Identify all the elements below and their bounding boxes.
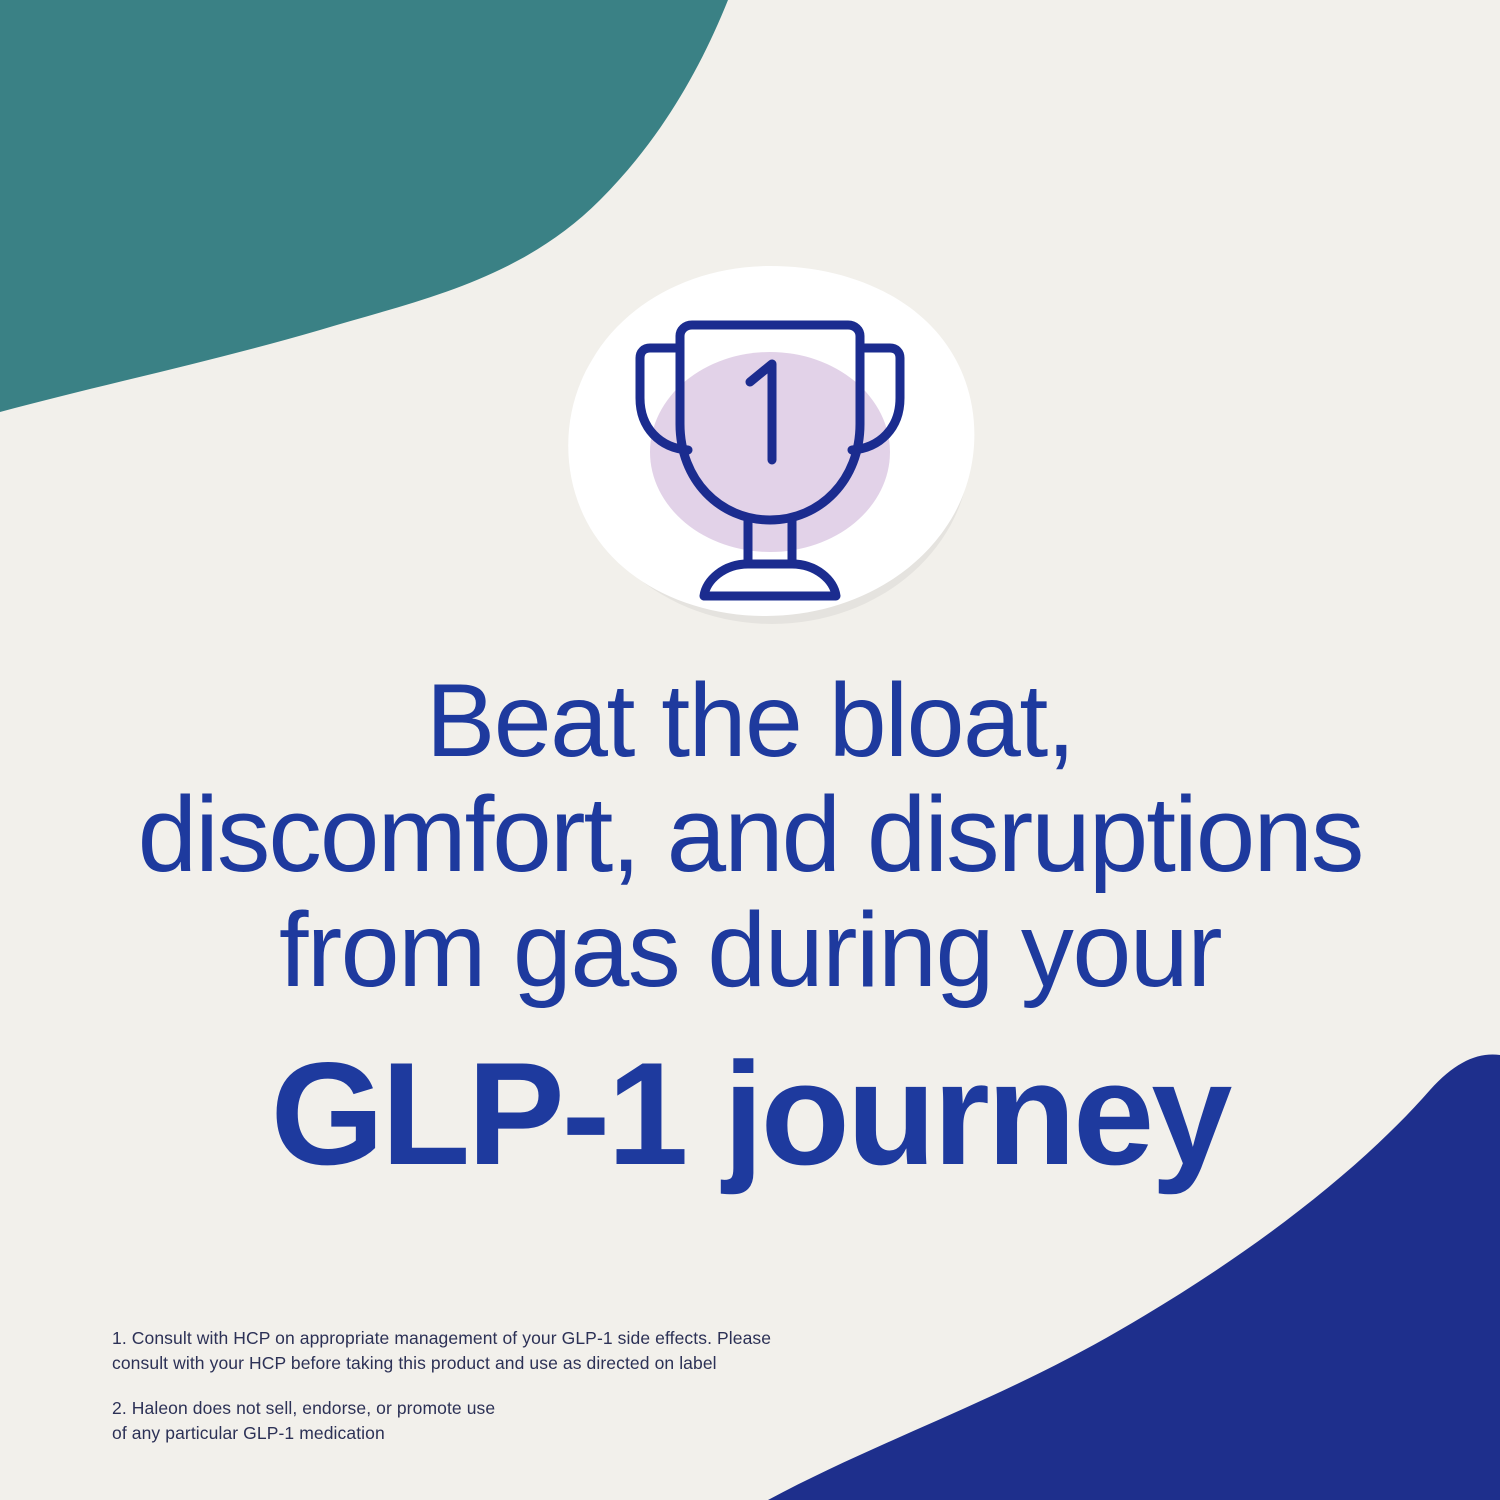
trophy-badge-graphic <box>552 252 988 632</box>
headline-line-2: discomfort, and disruptions <box>0 777 1500 893</box>
headline-line-4-emphasis: GLP-1 journey <box>0 1031 1500 1197</box>
footnote-2-line-1: 2. Haleon does not sell, endorse, or pro… <box>112 1396 1012 1421</box>
headline-line-1: Beat the bloat, <box>0 665 1500 777</box>
trophy-badge <box>552 252 988 632</box>
headline: Beat the bloat, discomfort, and disrupti… <box>0 665 1500 1198</box>
footnote-1-line-2: consult with your HCP before taking this… <box>112 1351 1012 1376</box>
footnote-1-line-1: 1. Consult with HCP on appropriate manag… <box>112 1326 1012 1351</box>
footnote-2-line-2: of any particular GLP-1 medication <box>112 1421 1012 1446</box>
footnote-1: 1. Consult with HCP on appropriate manag… <box>112 1326 1012 1376</box>
headline-line-3: from gas during your <box>0 893 1500 1007</box>
footnotes: 1. Consult with HCP on appropriate manag… <box>112 1326 1012 1445</box>
footnote-2: 2. Haleon does not sell, endorse, or pro… <box>112 1396 1012 1446</box>
promotional-poster: Beat the bloat, discomfort, and disrupti… <box>0 0 1500 1500</box>
